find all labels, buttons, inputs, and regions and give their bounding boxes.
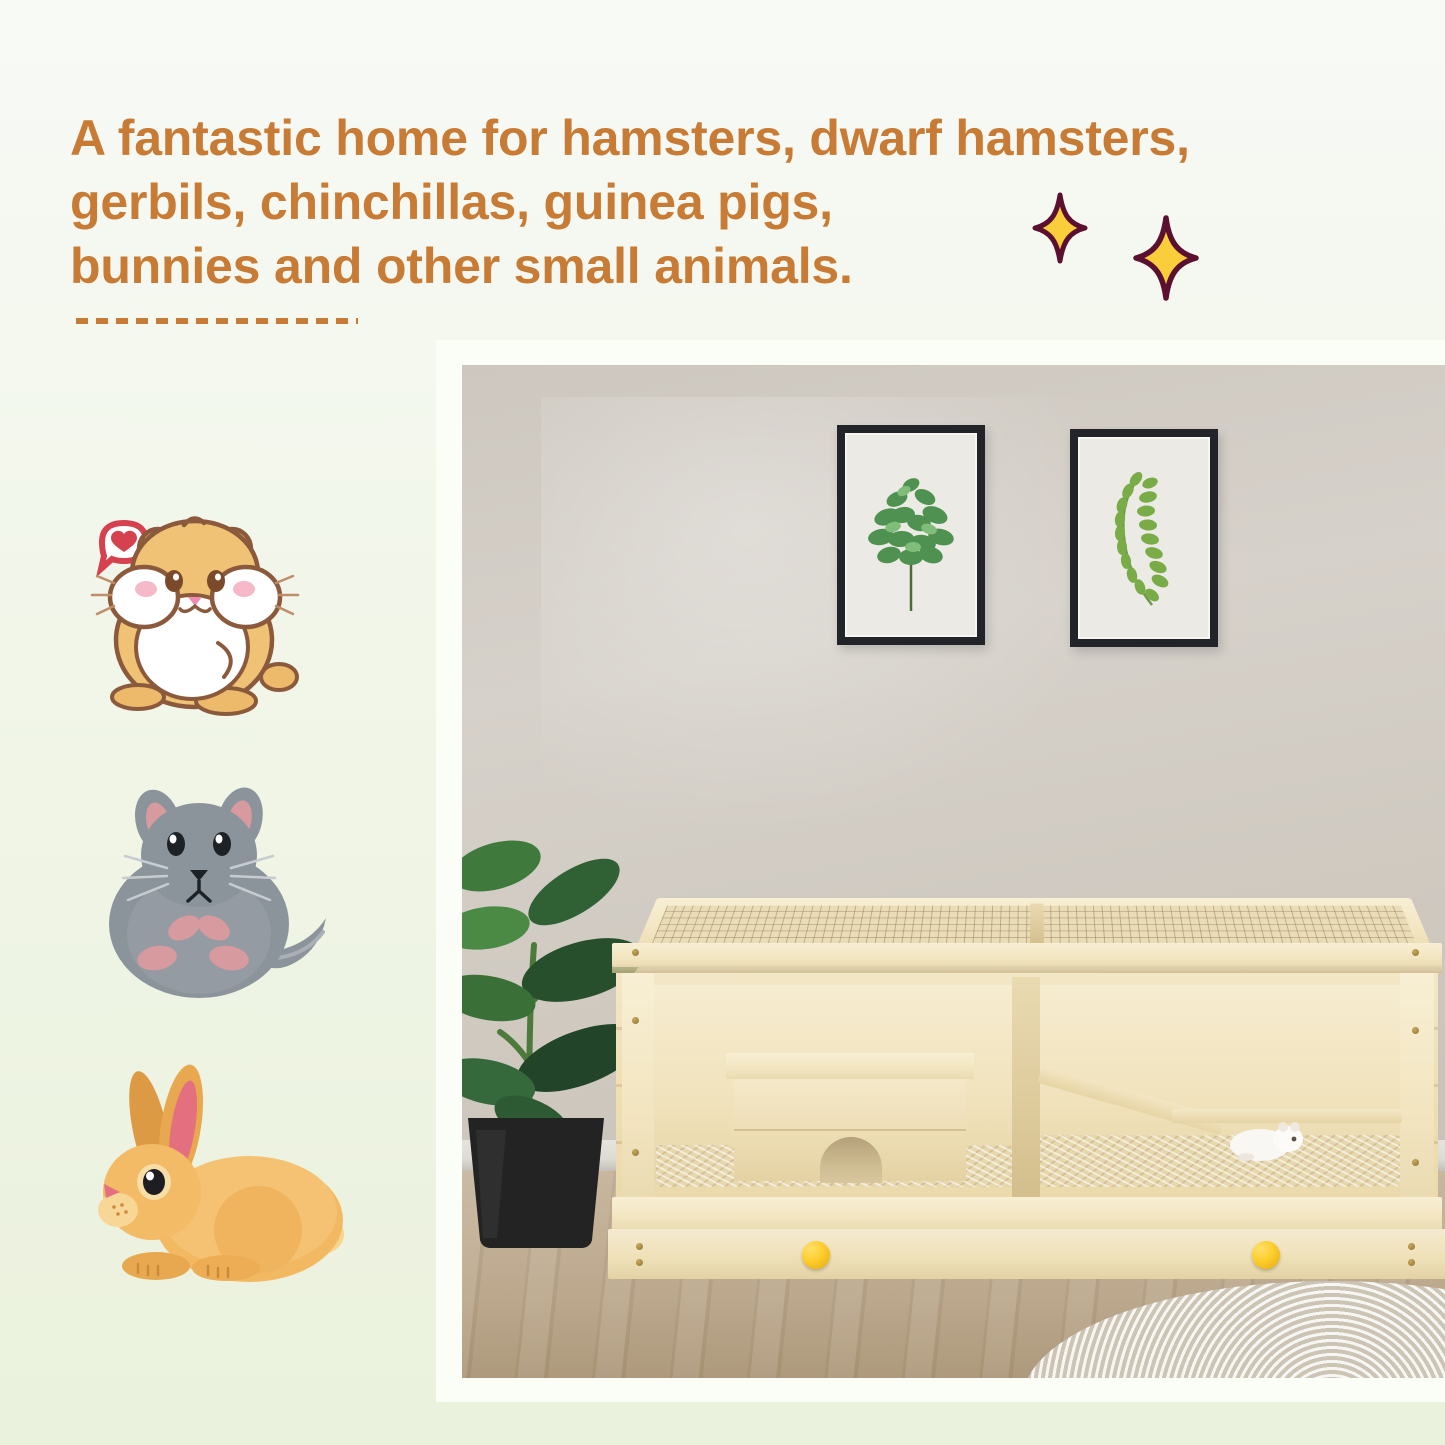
- screw-tray-right-2: [1408, 1259, 1415, 1266]
- cage-corner-post-left: [622, 973, 654, 1205]
- rabbit-illustration: [86, 1062, 366, 1302]
- framed-print-fern: [1070, 429, 1218, 647]
- wooden-hamster-cage: [612, 877, 1442, 1297]
- fern-print-art: [1090, 455, 1198, 621]
- screw-tray-left-2: [636, 1259, 643, 1266]
- dashed-divider: [76, 318, 358, 324]
- hamster-illustration: [66, 505, 316, 730]
- tray-knob-left[interactable]: [802, 1241, 830, 1269]
- inner-house-seam: [734, 1129, 966, 1131]
- cage-divider-post: [1012, 977, 1040, 1203]
- screw-tray-right: [1408, 1243, 1415, 1250]
- cage-pullout-tray: [608, 1229, 1445, 1279]
- inner-house-roof: [726, 1053, 974, 1079]
- cage-inner-house: [734, 1053, 966, 1181]
- cage-mesh-panel-right: [1042, 906, 1417, 945]
- white-hamster: [1226, 1117, 1304, 1163]
- cage-mesh-panel-left: [651, 906, 1030, 945]
- cage-top-rail: [612, 943, 1442, 967]
- screw-top-right: [1412, 949, 1419, 956]
- chinchilla-illustration: [95, 782, 345, 1008]
- screw-mid-left: [632, 1017, 639, 1024]
- tray-knob-right[interactable]: [1252, 1241, 1280, 1269]
- plant-print-art: [857, 451, 965, 619]
- screw-top-left: [632, 949, 639, 956]
- screw-low-right: [1412, 1159, 1419, 1166]
- bedding-right: [1040, 1135, 1400, 1187]
- wall-light-sheen: [541, 397, 1131, 837]
- cage-bottom-rail: [612, 1197, 1442, 1231]
- sparkle-small-icon: [1032, 192, 1088, 264]
- screw-mid-right: [1412, 1027, 1419, 1034]
- product-feature-poster: A fantastic home for hamsters, dwarf ham…: [0, 0, 1445, 1445]
- cage-top-rail-shadow: [612, 965, 1442, 973]
- cage-corner-post-right: [1400, 973, 1434, 1205]
- page-title: A fantastic home for hamsters, dwarf ham…: [70, 106, 1310, 298]
- sparkle-large-icon: [1133, 215, 1199, 301]
- product-photo: [462, 365, 1445, 1378]
- screw-low-left: [632, 1149, 639, 1156]
- framed-print-plant: [837, 425, 985, 645]
- screw-tray-left: [636, 1243, 643, 1250]
